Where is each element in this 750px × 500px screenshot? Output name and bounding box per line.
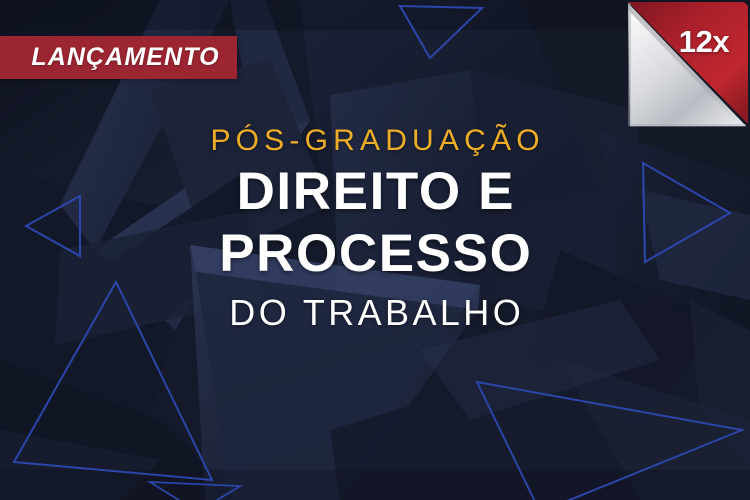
course-title-line-2: PROCESSO: [0, 225, 750, 283]
course-level-eyebrow: PÓS-GRADUAÇÃO: [0, 126, 750, 156]
promo-banner: LANÇAMENTO: [0, 0, 750, 500]
status-badge: LANÇAMENTO: [0, 36, 237, 79]
corner-ribbon-shape: [622, 0, 750, 129]
headline-block: PÓS-GRADUAÇÃO DIREITO E PROCESSO DO TRAB…: [0, 126, 750, 331]
status-badge-label: LANÇAMENTO: [17, 45, 219, 70]
course-title-line-3: DO TRABALHO: [0, 295, 750, 331]
course-title-line-1: DIREITO E: [0, 163, 750, 221]
installments-corner-ribbon: 12x: [622, 0, 750, 129]
